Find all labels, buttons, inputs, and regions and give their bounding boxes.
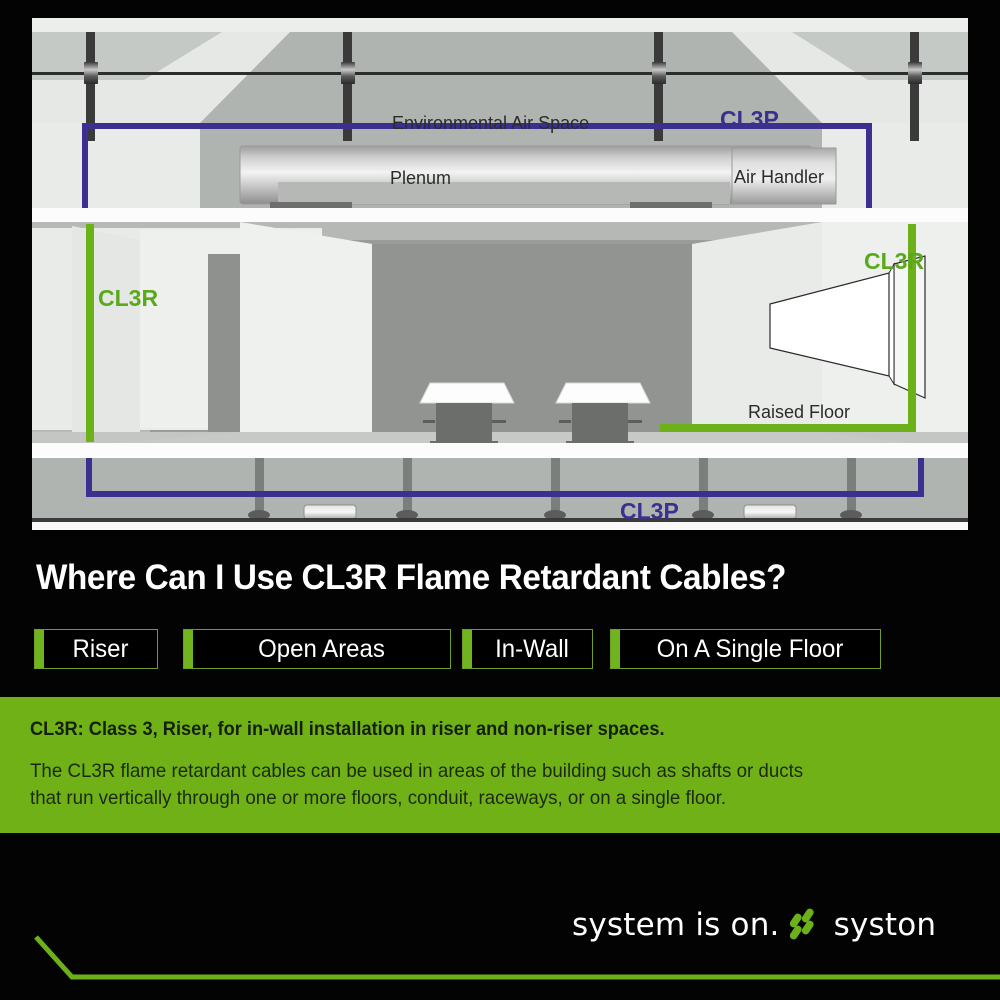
chip-label: Open Areas [198, 630, 445, 668]
chip-on-a-single-floor[interactable]: On A Single Floor [610, 629, 881, 669]
diagram-illustration [32, 18, 968, 530]
cl3r-cable-left [86, 224, 94, 442]
chip-label: Riser [46, 630, 154, 668]
label-air-handler: Air Handler [734, 167, 824, 188]
label-plenum: Plenum [390, 168, 451, 189]
label-raised-floor: Raised Floor [748, 402, 850, 423]
band-body-line-2: that run vertically through one or more … [30, 787, 942, 810]
chip-accent-bar [35, 630, 44, 668]
band-definition-text: CL3R: Class 3, Riser, for in-wall instal… [30, 719, 932, 741]
building-cutaway-diagram: Environmental Air Space Plenum Air Handl… [32, 18, 968, 530]
label-environmental-air-space: Environmental Air Space [392, 113, 589, 134]
chip-accent-bar [184, 630, 193, 668]
chip-accent-bar [463, 630, 472, 668]
band-body-line-1: The CL3R flame retardant cables can be u… [30, 760, 942, 783]
chip-label: In-Wall [474, 630, 589, 668]
tag-cl3r-right: CL3R [864, 248, 924, 275]
plenum-duct [240, 146, 812, 212]
tag-cl3p-bottom: CL3P [620, 498, 679, 525]
chip-label: On A Single Floor [625, 630, 875, 668]
tag-cl3r-left: CL3R [98, 285, 158, 312]
chip-open-areas[interactable]: Open Areas [183, 629, 451, 669]
chip-riser[interactable]: Riser [34, 629, 158, 669]
infographic-page: Environmental Air Space Plenum Air Handl… [0, 0, 1000, 1000]
chip-in-wall[interactable]: In-Wall [462, 629, 593, 669]
chip-accent-bar [611, 630, 620, 668]
tag-cl3p-top: CL3P [720, 106, 779, 133]
page-title: Where Can I Use CL3R Flame Retardant Cab… [36, 558, 920, 598]
corner-accent-line [0, 900, 1000, 1000]
